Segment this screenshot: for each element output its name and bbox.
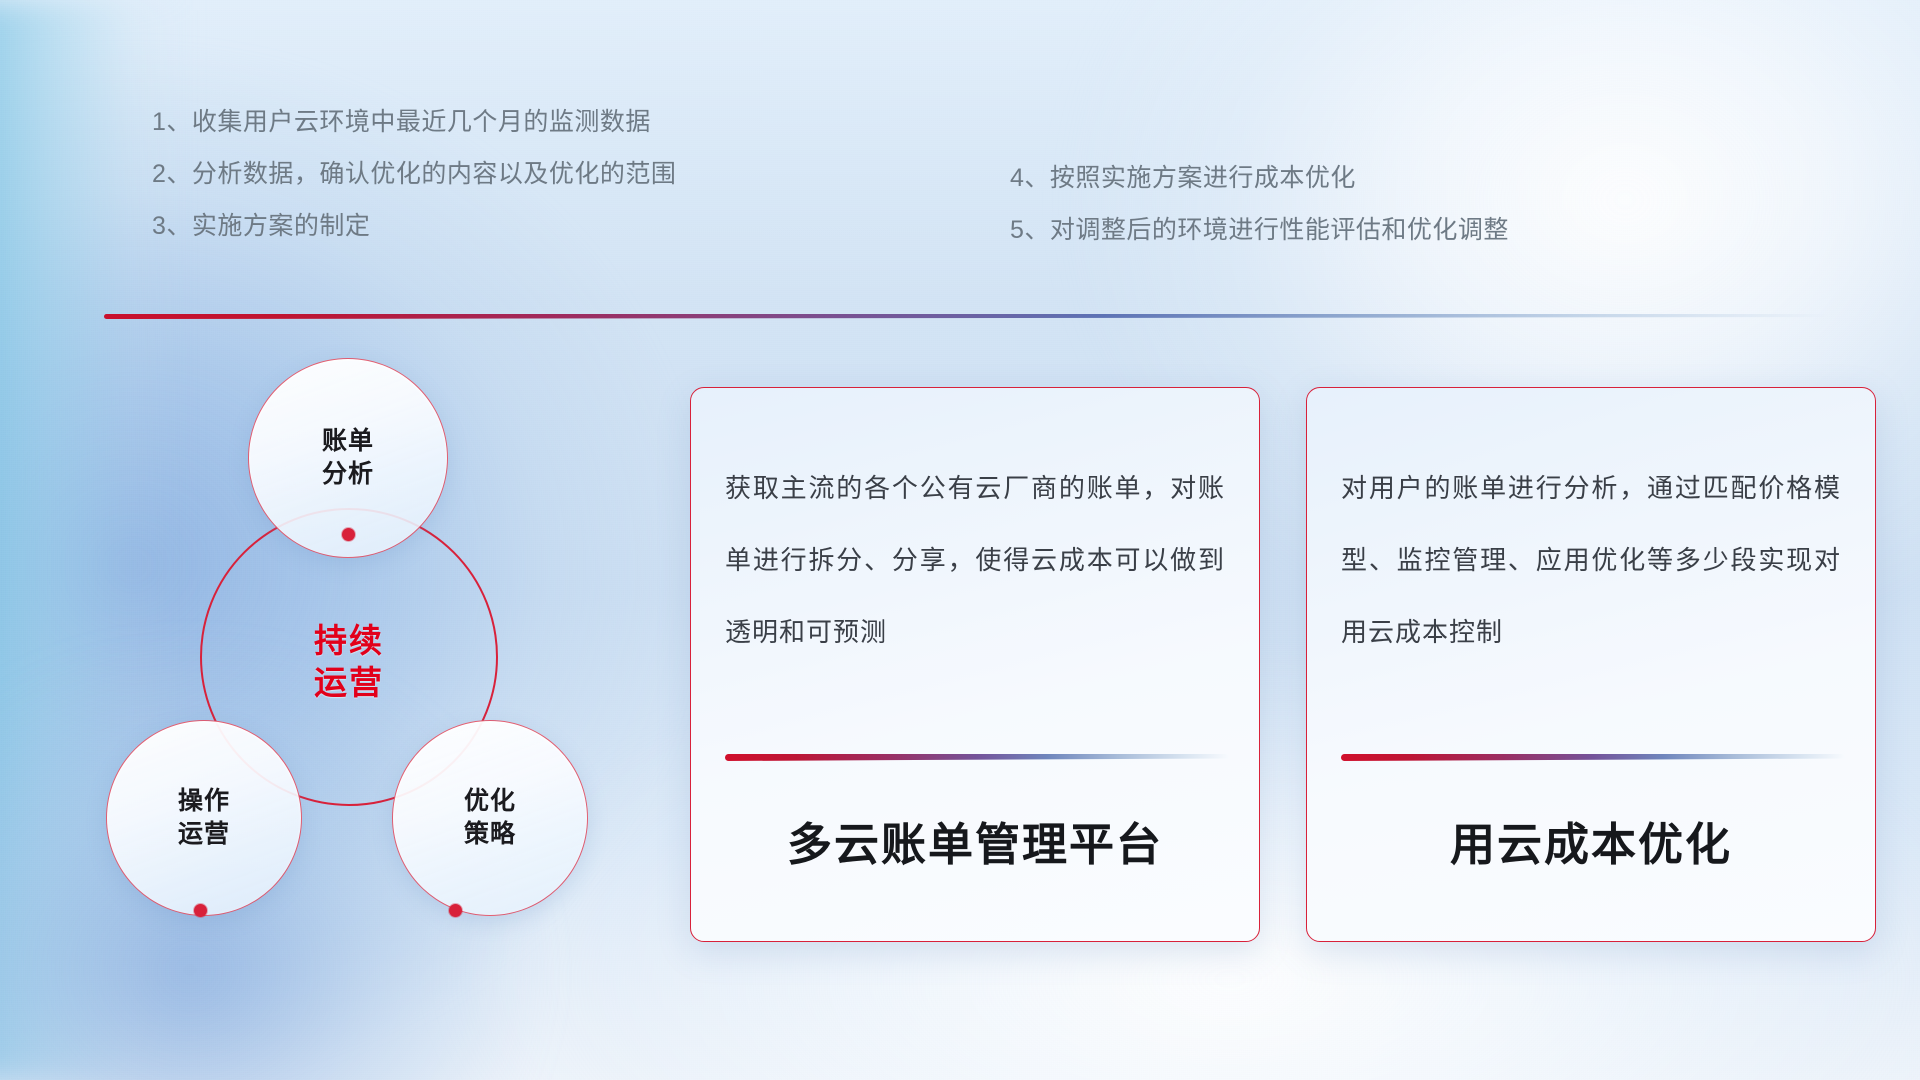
center-label-line1: 持续 [96, 620, 602, 662]
card-cloud-cost-optimization[interactable]: 对用户的账单进行分析，通过匹配价格模型、监控管理、应用优化等多少段实现对用云成本… [1306, 387, 1876, 942]
diagram-bubble-operations[interactable]: 操作 运营 [106, 720, 302, 916]
step-item-2: 2、分析数据，确认优化的内容以及优化的范围 [152, 148, 852, 200]
step-item-3: 3、实施方案的制定 [152, 200, 852, 252]
step-item-1: 1、收集用户云环境中最近几个月的监测数据 [152, 96, 852, 148]
card-divider [1341, 754, 1845, 761]
card-title-text: 多云账单管理平台 [725, 808, 1225, 873]
bubble-label-line1: 优化 [464, 785, 516, 818]
steps-list-right: 4、按照实施方案进行成本优化 5、对调整后的环境进行性能评估和优化调整 [1010, 152, 1750, 256]
slide-canvas: 1、收集用户云环境中最近几个月的监测数据 2、分析数据，确认优化的内容以及优化的… [0, 0, 1920, 1080]
diagram-node-dot-bottom-right [449, 904, 462, 917]
bubble-label-line1: 账单 [322, 425, 374, 458]
bubble-label-line2: 策略 [464, 818, 516, 851]
step-item-4: 4、按照实施方案进行成本优化 [1010, 152, 1750, 204]
card-divider [725, 754, 1229, 761]
diagram-node-dot-top [342, 528, 355, 541]
diagram-center-label: 持续 运营 [96, 620, 602, 704]
step-item-5: 5、对调整后的环境进行性能评估和优化调整 [1010, 204, 1750, 256]
card-body-text: 获取主流的各个公有云厂商的账单，对账单进行拆分、分享，使得云成本可以做到透明和可… [725, 452, 1225, 668]
continuous-operations-diagram: 账单 分析 操作 运营 优化 策略 持续 运营 [96, 348, 656, 948]
bubble-label-line2: 分析 [322, 458, 374, 491]
bubble-label-line1: 操作 [178, 785, 230, 818]
card-body-text: 对用户的账单进行分析，通过匹配价格模型、监控管理、应用优化等多少段实现对用云成本… [1341, 452, 1841, 668]
card-title-text: 用云成本优化 [1341, 808, 1841, 873]
steps-list-left: 1、收集用户云环境中最近几个月的监测数据 2、分析数据，确认优化的内容以及优化的… [152, 96, 852, 252]
bubble-label-line2: 运营 [178, 818, 230, 851]
diagram-node-dot-bottom-left [194, 904, 207, 917]
diagram-bubble-optimization-strategy[interactable]: 优化 策略 [392, 720, 588, 916]
center-label-line2: 运营 [96, 662, 602, 704]
card-multicloud-billing-platform[interactable]: 获取主流的各个公有云厂商的账单，对账单进行拆分、分享，使得云成本可以做到透明和可… [690, 387, 1260, 942]
